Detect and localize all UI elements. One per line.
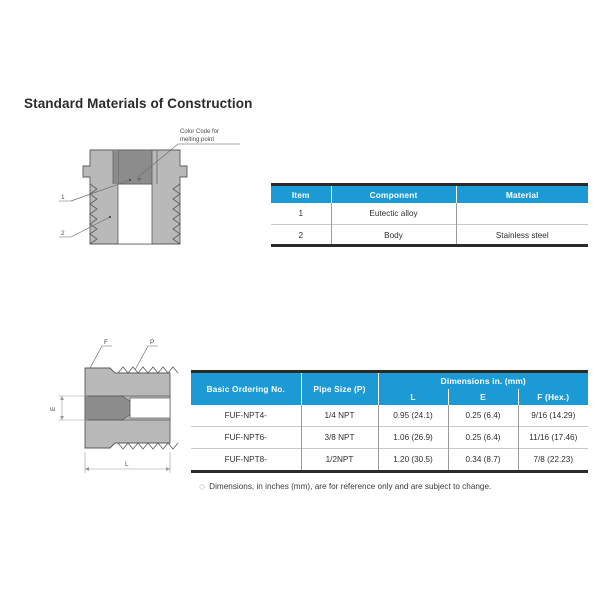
table-row: 1 Eutectic alloy [271, 203, 588, 225]
color-code-caption-line1: Color Code for [180, 129, 219, 135]
table-row: FUF-NPT8- 1/2NPT 1.20 (30.5) 0.34 (8.7) … [191, 449, 588, 471]
bore-dimension-label: E [50, 406, 57, 411]
dimensions-header-pipe-size: Pipe Size (P) [301, 373, 378, 405]
length-dimension-label: L [125, 461, 129, 468]
materials-header-item: Item [271, 186, 331, 203]
dimensions-cell-f: 9/16 (14.29) [518, 405, 588, 427]
callout-1-label: 1 [61, 194, 65, 201]
dimensions-header-e: E [448, 389, 518, 405]
dimensions-table: Basic Ordering No. Pipe Size (P) Dimensi… [191, 373, 588, 470]
dimensions-header-ordering-no: Basic Ordering No. [191, 373, 301, 405]
table-row: FUF-NPT6- 3/8 NPT 1.06 (26.9) 0.25 (6.4)… [191, 427, 588, 449]
side-view-drawing: F P E L [30, 330, 205, 490]
callout-1-leader-dot [129, 179, 131, 181]
materials-cell-material: Stainless steel [456, 225, 588, 247]
dimensions-cell-l: 1.06 (26.9) [378, 427, 448, 449]
cross-section-drawing: Color Code for melting point 1 2 [40, 122, 260, 272]
dimensions-cell-e: 0.25 (6.4) [448, 405, 518, 427]
dimensions-header-l: L [378, 389, 448, 405]
dimensions-cell-f: 11/16 (17.46) [518, 427, 588, 449]
materials-header-component: Component [331, 186, 456, 203]
dimensions-table-header-row-1: Basic Ordering No. Pipe Size (P) Dimensi… [191, 373, 588, 389]
table-row: FUF-NPT4- 1/4 NPT 0.95 (24.1) 0.25 (6.4)… [191, 405, 588, 427]
materials-table: Item Component Material 1 Eutectic alloy… [271, 186, 588, 246]
pipe-leader-line [135, 346, 148, 370]
dimensions-cell-e: 0.25 (6.4) [448, 427, 518, 449]
materials-header-material: Material [456, 186, 588, 203]
dimensions-cell-pipe-size: 3/8 NPT [301, 427, 378, 449]
materials-table-bottom-rule [271, 244, 588, 247]
materials-cell-item: 1 [271, 203, 331, 225]
length-dimension-group: L [85, 452, 170, 473]
eutectic-alloy-plug-left [113, 150, 118, 184]
table-row: 2 Body Stainless steel [271, 225, 588, 247]
dimensions-cell-f: 7/8 (22.23) [518, 449, 588, 471]
materials-table-header-row: Item Component Material [271, 186, 588, 203]
dimensions-footnote: ◇Dimensions, in inches (mm), are for ref… [199, 482, 491, 491]
page-title: Standard Materials of Construction [24, 96, 252, 111]
hex-leader-line [90, 346, 102, 368]
dimensions-cell-ordering-no: FUF-NPT4- [191, 405, 301, 427]
bore-band [130, 398, 170, 418]
dimensions-cell-pipe-size: 1/4 NPT [301, 405, 378, 427]
callout-2-leader-dot [109, 216, 111, 218]
bore-cavity [118, 184, 152, 244]
materials-cell-item: 2 [271, 225, 331, 247]
dimensions-cell-l: 0.95 (24.1) [378, 405, 448, 427]
dimensions-header-group: Dimensions in. (mm) [378, 373, 588, 389]
pipe-thread-label: P [150, 339, 154, 346]
materials-cell-component: Body [331, 225, 456, 247]
hex-dimension-label: F [104, 339, 108, 346]
thread-crest-bottom [118, 443, 178, 449]
dimensions-footnote-text: Dimensions, in inches (mm), are for refe… [209, 482, 491, 491]
bore-dimension-group: E [50, 396, 88, 420]
callout-2-label: 2 [61, 230, 65, 237]
eutectic-alloy-plug [118, 150, 152, 184]
dimensions-cell-ordering-no: FUF-NPT6- [191, 427, 301, 449]
materials-cell-component: Eutectic alloy [331, 203, 456, 225]
color-code-caption-line2: melting point [180, 137, 214, 143]
dimensions-table-bottom-rule [191, 470, 588, 473]
dimensions-cell-ordering-no: FUF-NPT8- [191, 449, 301, 471]
eutectic-alloy-band [85, 396, 130, 420]
page-root: Standard Materials of Construction Color… [0, 0, 600, 600]
dimensions-header-f: F (Hex.) [518, 389, 588, 405]
materials-cell-material [456, 203, 588, 225]
dimensions-cell-e: 0.34 (8.7) [448, 449, 518, 471]
thread-crest-top [118, 367, 178, 373]
diamond-bullet-icon: ◇ [199, 482, 205, 491]
dimensions-cell-l: 1.20 (30.5) [378, 449, 448, 471]
dimensions-cell-pipe-size: 1/2NPT [301, 449, 378, 471]
